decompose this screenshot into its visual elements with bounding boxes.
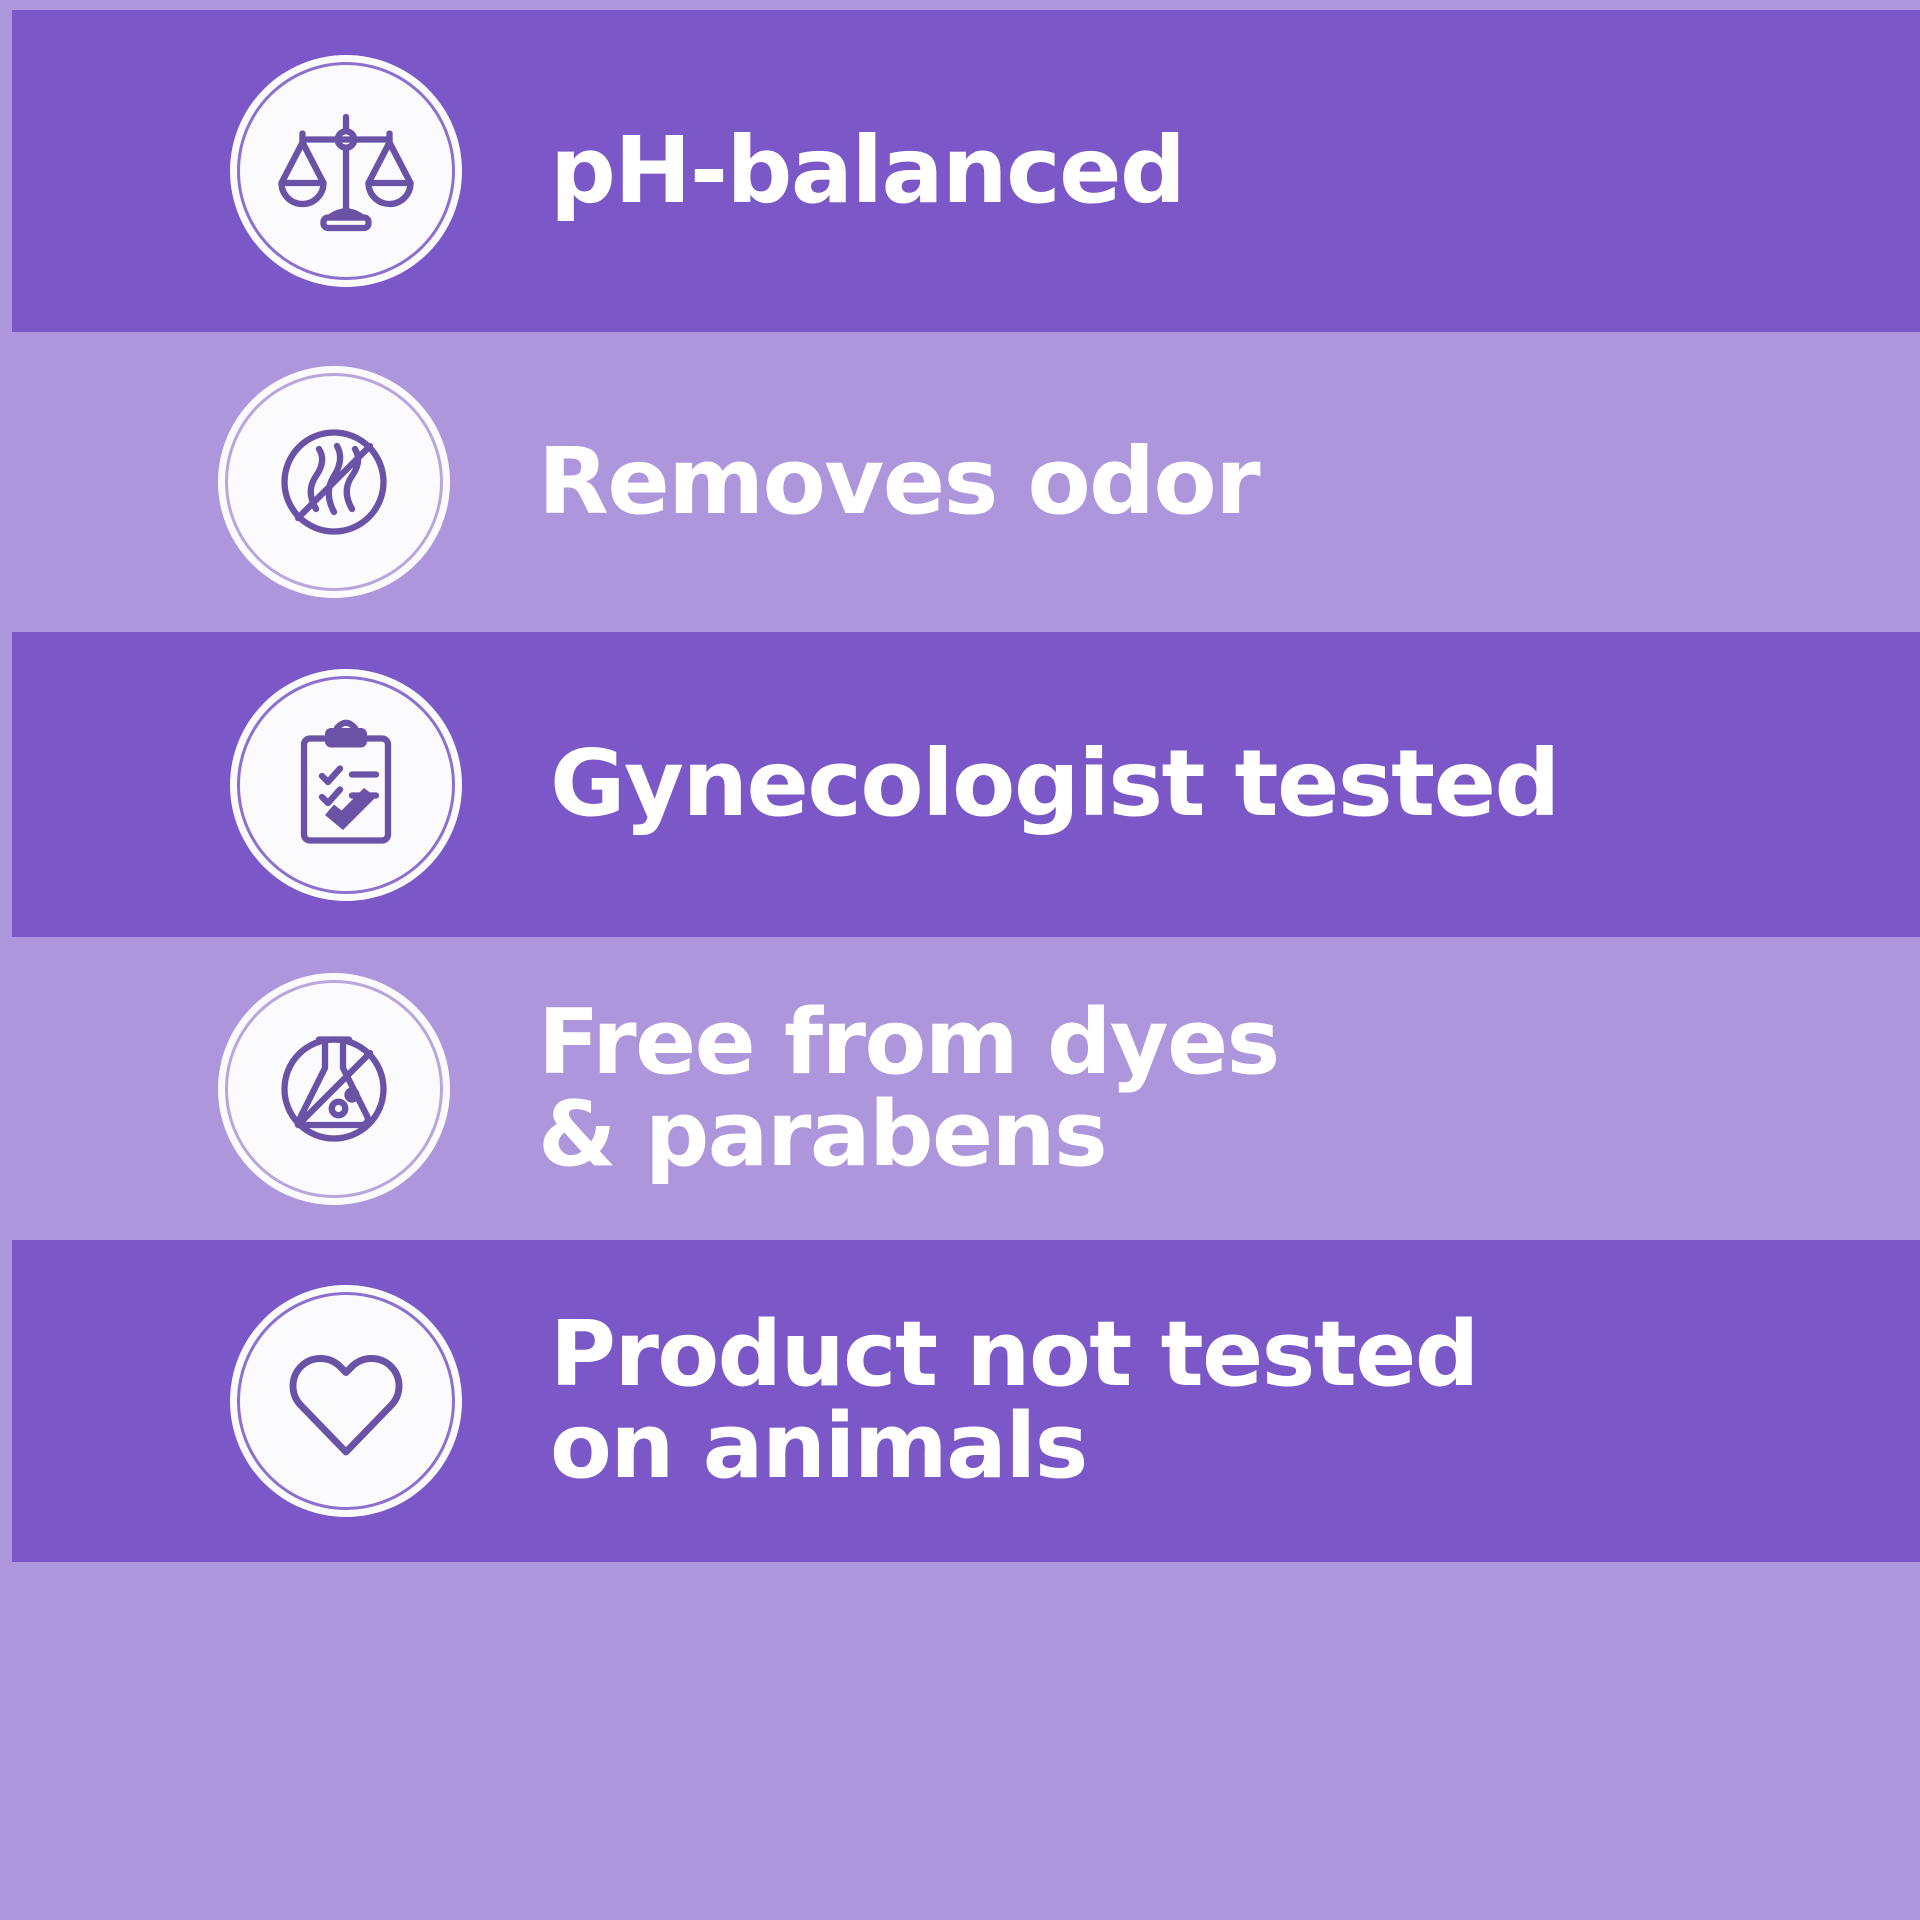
no-odor-icon [218, 366, 450, 598]
balance-scale-icon [230, 55, 462, 287]
clipboard-checklist-icon [230, 669, 462, 901]
feature-label: Removes odor [538, 434, 1259, 531]
feature-row-gynecologist-tested: Gynecologist tested [12, 632, 1920, 937]
feature-row-ph-balanced: pH-balanced [12, 10, 1920, 332]
feature-list-graphic: pH-balanced Removes odor [0, 0, 1920, 1920]
feature-label: pH-balanced [550, 123, 1184, 220]
feature-label: Product not tested on animals [550, 1309, 1478, 1493]
no-chemicals-flask-icon [218, 973, 450, 1205]
feature-row-removes-odor: Removes odor [0, 332, 1920, 632]
feature-row-free-from-dyes: Free from dyes & parabens [0, 937, 1920, 1240]
feature-label: Free from dyes & parabens [538, 997, 1279, 1181]
feature-row-not-tested-on-animals: Product not tested on animals [12, 1240, 1920, 1562]
heart-icon [230, 1285, 462, 1517]
feature-label: Gynecologist tested [550, 736, 1559, 833]
